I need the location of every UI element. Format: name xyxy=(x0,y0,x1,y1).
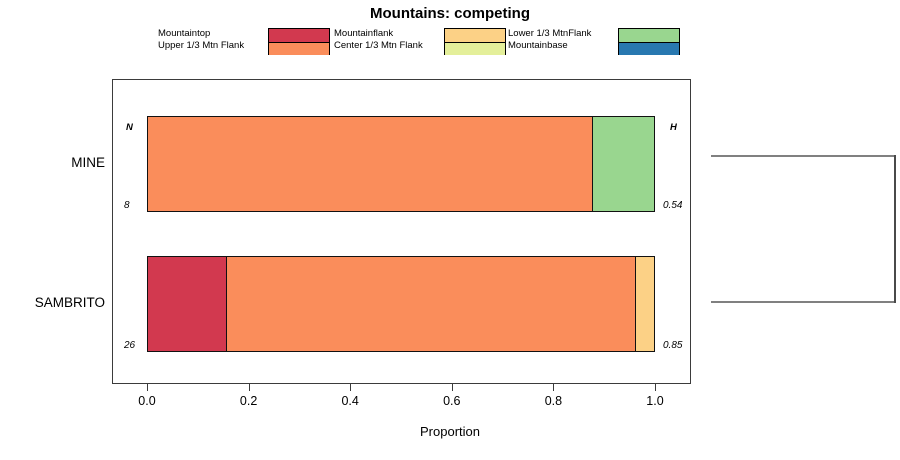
dendrogram-branch-bottom xyxy=(711,301,896,303)
h-value: 0.54 xyxy=(663,200,682,211)
x-tick-label: 1.0 xyxy=(630,394,680,408)
legend-labels: MountainflankCenter 1/3 Mtn Flank xyxy=(334,28,452,58)
legend-swatch[interactable] xyxy=(445,42,505,55)
n-value: 8 xyxy=(124,200,130,211)
bar-row xyxy=(147,116,655,212)
legend-swatches xyxy=(268,28,330,55)
chart-title: Mountains: competing xyxy=(0,5,900,22)
h-value: 0.85 xyxy=(663,340,682,351)
legend-swatch[interactable] xyxy=(619,29,679,42)
h-header: H xyxy=(670,122,677,133)
legend-label: Upper 1/3 Mtn Flank xyxy=(158,40,276,51)
x-tick xyxy=(249,384,250,391)
x-tick xyxy=(350,384,351,391)
bar-segment[interactable] xyxy=(635,257,654,351)
dendrogram-branch-top xyxy=(711,155,896,157)
bar-segment[interactable] xyxy=(592,117,654,211)
legend: MountaintopUpper 1/3 Mtn FlankMountainfl… xyxy=(158,28,678,58)
legend-column: MountaintopUpper 1/3 Mtn Flank xyxy=(158,28,340,58)
chart-root: Mountains: competing MountaintopUpper 1/… xyxy=(0,0,900,460)
x-tick-label: 0.2 xyxy=(224,394,274,408)
x-tick-label: 0.8 xyxy=(528,394,578,408)
bar-segment[interactable] xyxy=(226,257,635,351)
x-tick xyxy=(147,384,148,391)
legend-swatch[interactable] xyxy=(445,29,505,42)
x-tick xyxy=(655,384,656,391)
x-tick-label: 0.0 xyxy=(122,394,172,408)
legend-swatches xyxy=(444,28,506,55)
legend-label: Mountaintop xyxy=(158,28,276,39)
legend-labels: MountaintopUpper 1/3 Mtn Flank xyxy=(158,28,276,58)
legend-label: Lower 1/3 MtnFlank xyxy=(508,28,626,39)
stacked-bar xyxy=(147,116,655,212)
x-tick xyxy=(452,384,453,391)
legend-labels: Lower 1/3 MtnFlankMountainbase xyxy=(508,28,626,58)
legend-column: MountainflankCenter 1/3 Mtn Flank xyxy=(334,28,516,58)
x-axis: 0.00.20.40.60.81.0 xyxy=(112,384,691,424)
bar-segment[interactable] xyxy=(148,257,226,351)
row-label-mine: MINE xyxy=(0,155,105,170)
legend-swatch[interactable] xyxy=(619,42,679,55)
dendrogram-bracket xyxy=(711,155,896,310)
legend-swatches xyxy=(618,28,680,55)
n-header: N xyxy=(126,122,133,133)
bar-segment[interactable] xyxy=(148,117,592,211)
bar-row xyxy=(147,256,655,352)
legend-column: Lower 1/3 MtnFlankMountainbase xyxy=(508,28,688,58)
x-axis-title: Proportion xyxy=(0,424,900,439)
x-tick xyxy=(553,384,554,391)
x-tick-label: 0.6 xyxy=(427,394,477,408)
row-label-sambrito: SAMBRITO xyxy=(0,295,105,310)
legend-label: Center 1/3 Mtn Flank xyxy=(334,40,452,51)
legend-swatch[interactable] xyxy=(269,29,329,42)
legend-label: Mountainbase xyxy=(508,40,626,51)
dendrogram-join xyxy=(894,155,896,303)
legend-label: Mountainflank xyxy=(334,28,452,39)
legend-swatch[interactable] xyxy=(269,42,329,55)
stacked-bar xyxy=(147,256,655,352)
n-value: 26 xyxy=(124,340,135,351)
x-tick-label: 0.4 xyxy=(325,394,375,408)
